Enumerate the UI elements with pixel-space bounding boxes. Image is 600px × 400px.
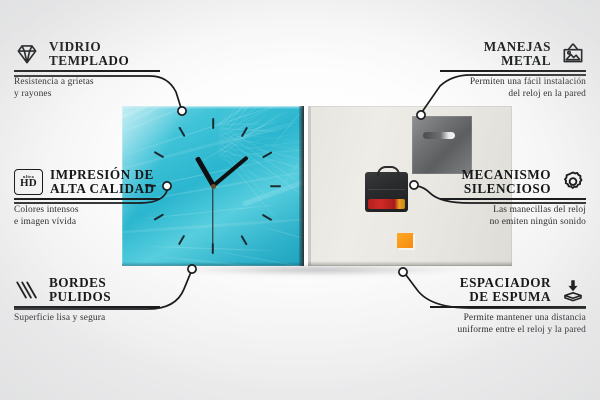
feature-subtitle-line1: Las manecillas del reloj [440,204,586,217]
feature-subtitle-line2: no emiten ningún sonido [440,216,586,229]
feature-subtitle-line1: Colores intensos [14,204,160,217]
clock-movement [365,172,408,212]
glass-bottom-shade [122,262,304,266]
feature-title-line1: ESPACIADOR [460,276,551,290]
feature-bordes-pulidos: BORDES PULIDOS Superficie lisa y segura [14,276,160,324]
battery [368,199,405,209]
hd-icon-bottom-text: HD [20,178,37,189]
feature-subtitle: Las manecillas del reloj no emiten ningú… [440,204,586,229]
feature-title-line1: IMPRESIÓN DE [50,168,155,182]
back-panel-left-edge [308,106,311,266]
feature-title-line1: MANEJAS [484,40,551,54]
feature-subtitle-line1: Resistencia a grietas [14,76,160,89]
feature-subtitle-line1: Permite mantener una distancia [430,312,586,325]
hanger-slot [423,132,455,139]
feature-header: ESPACIADOR DE ESPUMA [430,276,586,304]
feature-subtitle-line2: e imagen vívida [14,216,160,229]
feature-title: ESPACIADOR DE ESPUMA [460,276,551,304]
feature-title: IMPRESIÓN DE ALTA CALIDAD [50,168,155,196]
feature-mecanismo-silencioso: MECANISMO SILENCIOSO Las manecillas del … [440,168,586,229]
feature-subtitle: Permite mantener una distancia uniforme … [430,312,586,337]
metal-hanger-plate [412,116,472,174]
ultra-hd-icon: ultra HD [14,169,41,195]
feature-underline [440,198,586,200]
feature-header: BORDES PULIDOS [14,276,160,304]
feature-impresion-alta-calidad: ultra HD IMPRESIÓN DE ALTA CALIDAD Color… [14,168,160,229]
infographic-canvas: VIDRIO TEMPLADO Resistencia a grietas y … [0,0,600,400]
feature-subtitle: Colores intensos e imagen vívida [14,204,160,229]
feature-subtitle: Superficie lisa y segura [14,312,160,325]
feature-title-line1: MECANISMO [462,168,552,182]
foam-spacer-icon [560,277,586,303]
clock-center-pin [211,184,216,189]
glass-top-highlight [122,106,304,109]
feature-title-line2: SILENCIOSO [462,182,552,196]
feature-header: VIDRIO TEMPLADO [14,40,160,68]
feature-title-line2: METAL [484,54,551,68]
feature-title-line1: VIDRIO [49,40,129,54]
feature-subtitle: Resistencia a grietas y rayones [14,76,160,101]
feature-vidrio-templado: VIDRIO TEMPLADO Resistencia a grietas y … [14,40,160,101]
feature-subtitle-line2: del reloj en la pared [440,88,586,101]
feature-subtitle-line1: Permiten una fácil instalación [440,76,586,89]
feature-title: VIDRIO TEMPLADO [49,40,129,68]
feature-subtitle: Permiten una fácil instalación del reloj… [440,76,586,101]
feature-subtitle-line2: uniforme entre el reloj y la pared [430,324,586,337]
feature-title: BORDES PULIDOS [49,276,111,304]
feature-manejas-metal: MANEJAS METAL Permiten una fácil instala… [440,40,586,101]
wall-frame-icon [560,41,586,67]
feature-underline [14,198,160,200]
feature-header: MECANISMO SILENCIOSO [440,168,586,196]
feature-title-line2: DE ESPUMA [460,290,551,304]
feature-title: MANEJAS METAL [484,40,551,68]
foam-spacer [397,233,413,248]
feature-title-line2: PULIDOS [49,290,111,304]
movement-seam [368,189,405,190]
gear-icon [560,169,586,195]
movement-hook [377,166,400,177]
feature-underline [14,306,160,308]
feature-header: MANEJAS METAL [440,40,586,68]
clock-tick [212,118,214,129]
clock-tick [212,243,214,254]
diamond-icon [14,41,40,67]
feature-espaciador-espuma: ESPACIADOR DE ESPUMA Permite mantener un… [430,276,586,337]
feature-header: ultra HD IMPRESIÓN DE ALTA CALIDAD [14,168,160,196]
clock-tick [270,185,281,187]
feature-subtitle-line2: y rayones [14,88,160,101]
feature-underline [430,306,586,308]
feature-underline [440,70,586,72]
feature-title: MECANISMO SILENCIOSO [462,168,552,196]
back-panel-bottom-shade [308,261,512,266]
feature-title-line1: BORDES [49,276,111,290]
feature-underline [14,70,160,72]
feature-title-line2: TEMPLADO [49,54,129,68]
polished-edges-icon [14,277,40,303]
feature-subtitle-line1: Superficie lisa y segura [14,312,160,325]
feature-title-line2: ALTA CALIDAD [50,182,155,196]
glass-right-edge [299,106,304,266]
